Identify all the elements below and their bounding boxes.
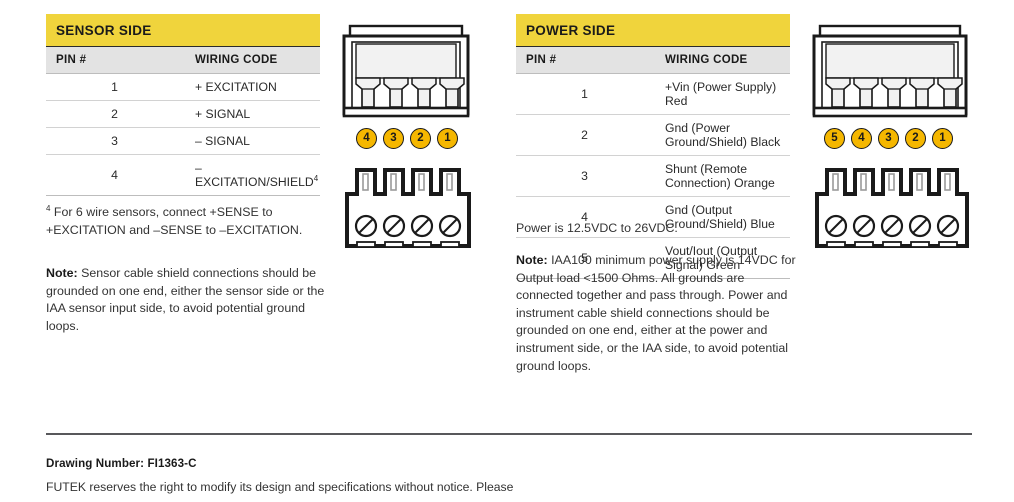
sensor-table-header-row: PIN # WIRING CODE (46, 47, 320, 74)
sensor-badge-2: 2 (410, 128, 431, 149)
sensor-pin-2: 2 (46, 101, 183, 128)
table-row: 1 +Vin (Power Supply) Red (516, 74, 790, 115)
footer-disclaimer: FUTEK reserves the right to modify its d… (46, 480, 513, 494)
sensor-code-2-text: + SIGNAL (195, 107, 250, 121)
power-table-header-row: PIN # WIRING CODE (516, 47, 790, 74)
power-code-2: Gnd (Power Ground/Shield) Black (653, 115, 790, 156)
power-badge-5: 5 (824, 128, 845, 149)
sensor-table-title: SENSOR SIDE (46, 14, 320, 47)
sensor-table-title-row: SENSOR SIDE (46, 14, 320, 47)
power-badge-4: 4 (851, 128, 872, 149)
power-range-text: Power is 12.5VDC to 26VDC. (516, 220, 802, 238)
power-side-table: POWER SIDE PIN # WIRING CODE 1 +Vin (Pow… (516, 14, 790, 279)
sensor-note-body: Sensor cable shield connections should b… (46, 266, 324, 333)
sensor-note-label: Note: (46, 266, 78, 280)
sensor-connector-plug-illustration (342, 24, 470, 122)
table-row: 4 – EXCITATION/SHIELD4 (46, 155, 320, 196)
power-note-label: Note: (516, 253, 548, 267)
power-connector-socket-illustration (811, 166, 969, 256)
sensor-pin-4: 4 (46, 155, 183, 196)
table-row: 3 Shunt (Remote Connection) Orange (516, 156, 790, 197)
sensor-code-4-footnote-marker: 4 (314, 174, 318, 183)
sensor-badge-3: 3 (383, 128, 404, 149)
power-pin-badges: 5 4 3 2 1 (824, 128, 953, 149)
sensor-connector-socket-illustration (341, 166, 471, 256)
power-note: Note: IAA100 minimum power supply is 14V… (516, 252, 802, 375)
sensor-code-4-text: – EXCITATION/SHIELD (195, 161, 314, 189)
sensor-code-3-text: – SIGNAL (195, 134, 250, 148)
power-connector-plug-illustration (812, 24, 968, 122)
sensor-badge-1: 1 (437, 128, 458, 149)
table-row: 2 + SIGNAL (46, 101, 320, 128)
sensor-col-pin: PIN # (46, 47, 183, 74)
sensor-code-4: – EXCITATION/SHIELD4 (183, 155, 320, 196)
table-row: 3 – SIGNAL (46, 128, 320, 155)
power-col-code: WIRING CODE (653, 47, 790, 74)
sensor-footnote: 4 For 6 wire sensors, connect +SENSE to … (46, 204, 332, 239)
sensor-badge-4: 4 (356, 128, 377, 149)
table-row: 2 Gnd (Power Ground/Shield) Black (516, 115, 790, 156)
drawing-number: Drawing Number: FI1363-C (46, 457, 197, 470)
power-table-title: POWER SIDE (516, 14, 790, 47)
sensor-pin-3: 3 (46, 128, 183, 155)
sensor-footnote-text: For 6 wire sensors, connect +SENSE to +E… (46, 205, 302, 237)
sensor-side-table: SENSOR SIDE PIN # WIRING CODE 1 + EXCITA… (46, 14, 320, 196)
power-code-3: Shunt (Remote Connection) Orange (653, 156, 790, 197)
table-row: 1 + EXCITATION (46, 74, 320, 101)
power-pin-1: 1 (516, 74, 653, 115)
power-table-title-row: POWER SIDE (516, 14, 790, 47)
power-code-1: +Vin (Power Supply) Red (653, 74, 790, 115)
sensor-pin-1: 1 (46, 74, 183, 101)
power-badge-3: 3 (878, 128, 899, 149)
sensor-code-1-text: + EXCITATION (195, 80, 277, 94)
power-col-pin: PIN # (516, 47, 653, 74)
sensor-col-code: WIRING CODE (183, 47, 320, 74)
power-badge-2: 2 (905, 128, 926, 149)
power-note-body: IAA100 minimum power supply is 14VDC for… (516, 253, 796, 373)
power-pin-2: 2 (516, 115, 653, 156)
footer-divider (46, 433, 972, 435)
power-badge-1: 1 (932, 128, 953, 149)
power-pin-3: 3 (516, 156, 653, 197)
datasheet-page: SENSOR SIDE PIN # WIRING CODE 1 + EXCITA… (0, 0, 1014, 502)
sensor-note: Note: Sensor cable shield connections sh… (46, 265, 332, 335)
sensor-pin-badges: 4 3 2 1 (356, 128, 458, 149)
sensor-code-1: + EXCITATION (183, 74, 320, 101)
sensor-code-3: – SIGNAL (183, 128, 320, 155)
sensor-code-2: + SIGNAL (183, 101, 320, 128)
